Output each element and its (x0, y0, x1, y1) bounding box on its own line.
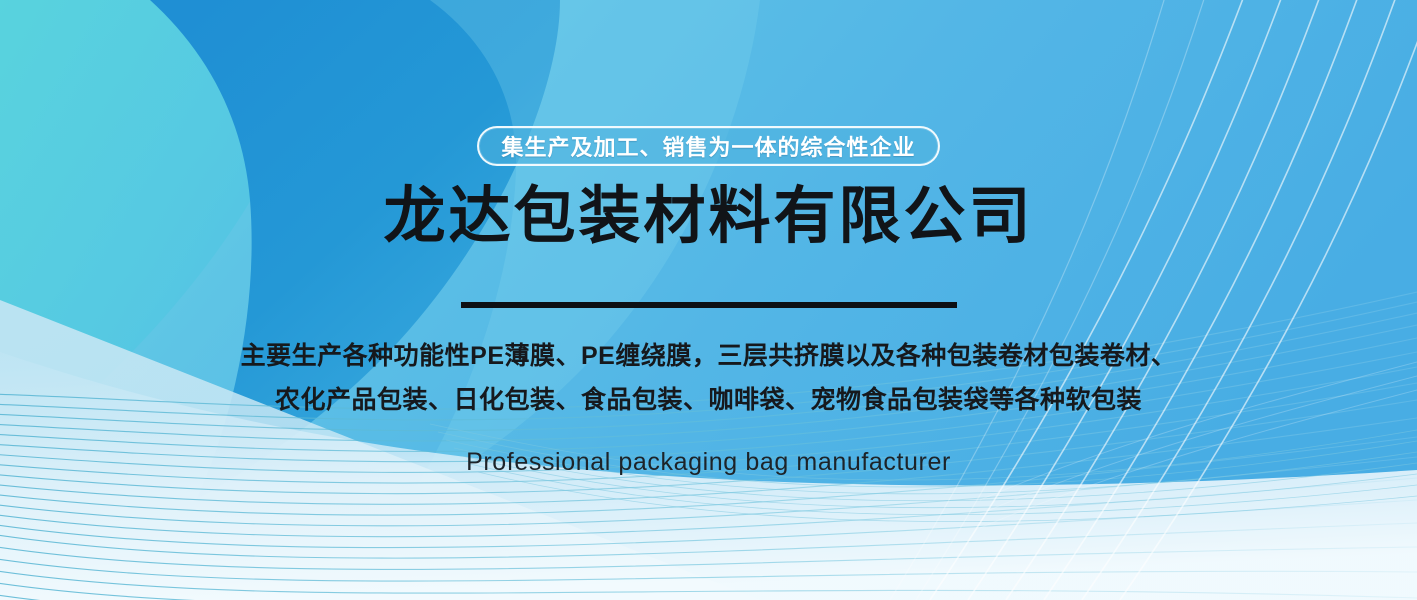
company-title: 龙达包装材料有限公司 (383, 184, 1033, 249)
description-line-2: 农化产品包装、日化包装、食品包装、咖啡袋、宠物食品包装袋等各种软包装 (241, 378, 1177, 422)
promo-banner: 集生产及加工、销售为一体的综合性企业 龙达包装材料有限公司 主要生产各种功能性P… (0, 0, 1417, 600)
tagline-badge-label: 集生产及加工、销售为一体的综合性企业 (501, 130, 915, 162)
english-subtitle: Professional packaging bag manufacturer (466, 448, 951, 477)
title-underline-rule (461, 302, 957, 308)
description-line-1: 主要生产各种功能性PE薄膜、PE缠绕膜，三层共挤膜以及各种包装卷材包装卷材、 (241, 334, 1177, 378)
description-block: 主要生产各种功能性PE薄膜、PE缠绕膜，三层共挤膜以及各种包装卷材包装卷材、 农… (241, 334, 1177, 422)
tagline-badge: 集生产及加工、销售为一体的综合性企业 (477, 126, 939, 166)
banner-content: 集生产及加工、销售为一体的综合性企业 龙达包装材料有限公司 主要生产各种功能性P… (0, 0, 1417, 600)
